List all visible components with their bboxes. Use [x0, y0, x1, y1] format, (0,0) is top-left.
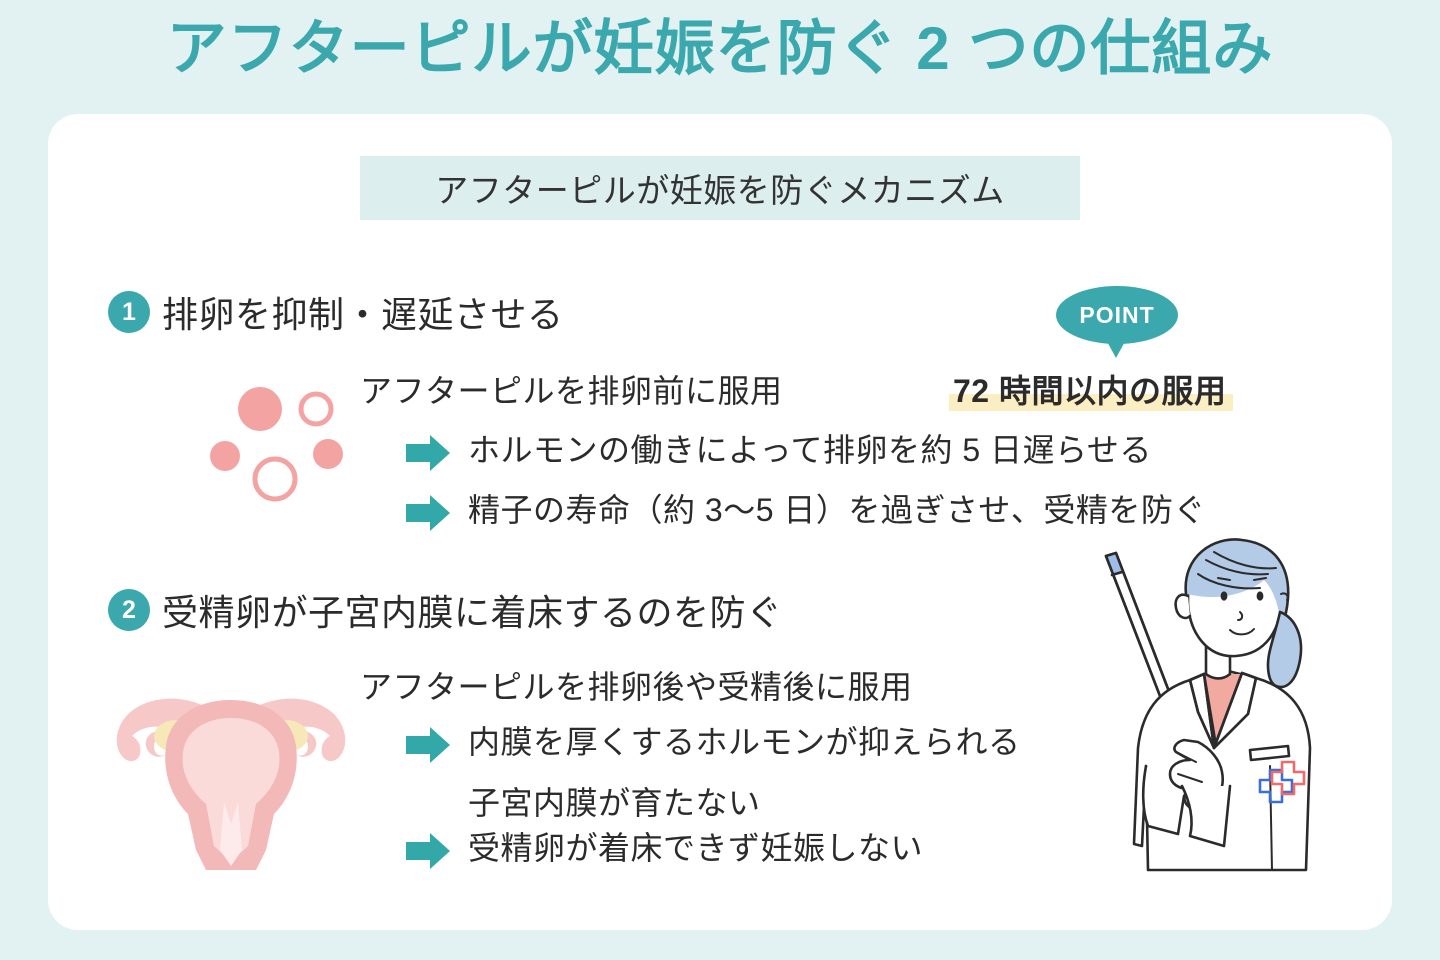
right-arrow-icon — [406, 435, 450, 471]
section-2-bullet-2: 受精卵が着床できず妊娠しない — [406, 828, 923, 869]
subtitle-banner: アフターピルが妊娠を防ぐメカニズム — [360, 156, 1080, 220]
section-1-bullet-1: ホルモンの働きによって排卵を約 5 日遅らせる — [406, 430, 1152, 471]
highlight-72h-text: 72 時間以内の服用 — [953, 373, 1227, 409]
right-arrow-icon — [406, 833, 450, 869]
section-1-heading: 1 排卵を抑制・遅延させる — [108, 286, 564, 338]
section-2-bullet-1-text: 内膜を厚くするホルモンが抑えられる — [468, 722, 1021, 763]
content-card: アフターピルが妊娠を防ぐメカニズム 1 排卵を抑制・遅延させる POINT アフ… — [48, 114, 1392, 930]
page-title: アフターピルが妊娠を防ぐ 2 つの仕組み — [0, 14, 1440, 83]
right-arrow-icon — [406, 727, 450, 763]
section-2-plain-line: 子宮内膜が育たない — [468, 778, 761, 824]
section-1-title: 排卵を抑制・遅延させる — [162, 286, 564, 338]
section-2-number-badge: 2 — [108, 589, 150, 631]
female-doctor-with-pointer-illustration — [1038, 534, 1392, 930]
ovulation-eggs-illustration — [198, 374, 378, 514]
highlight-72h: 72 時間以内の服用 — [953, 366, 1227, 412]
section-1-lead: アフターピルを排卵前に服用 — [360, 366, 783, 412]
section-1-bullet-2-text: 精子の寿命（約 3〜5 日）を過ぎさせ、受精を防ぐ — [468, 490, 1206, 531]
section-1-number-badge: 1 — [108, 291, 150, 333]
section-1-bullet-2: 精子の寿命（約 3〜5 日）を過ぎさせ、受精を防ぐ — [406, 490, 1206, 531]
section-2-lead: アフターピルを排卵後や受精後に服用 — [360, 662, 913, 708]
point-badge-tail — [1104, 336, 1128, 358]
subtitle-text: アフターピルが妊娠を防ぐメカニズム — [435, 164, 1005, 212]
section-2-bullet-1: 内膜を厚くするホルモンが抑えられる — [406, 722, 1021, 763]
section-2-heading: 2 受精卵が子宮内膜に着床するのを防ぐ — [108, 584, 783, 636]
right-arrow-icon — [406, 495, 450, 531]
section-2-bullet-2-text: 受精卵が着床できず妊娠しない — [468, 828, 923, 869]
section-2-title: 受精卵が子宮内膜に着床するのを防ぐ — [162, 584, 783, 636]
uterus-illustration — [96, 674, 366, 874]
section-1-bullet-1-text: ホルモンの働きによって排卵を約 5 日遅らせる — [468, 430, 1152, 471]
point-badge-label: POINT — [1079, 302, 1154, 329]
